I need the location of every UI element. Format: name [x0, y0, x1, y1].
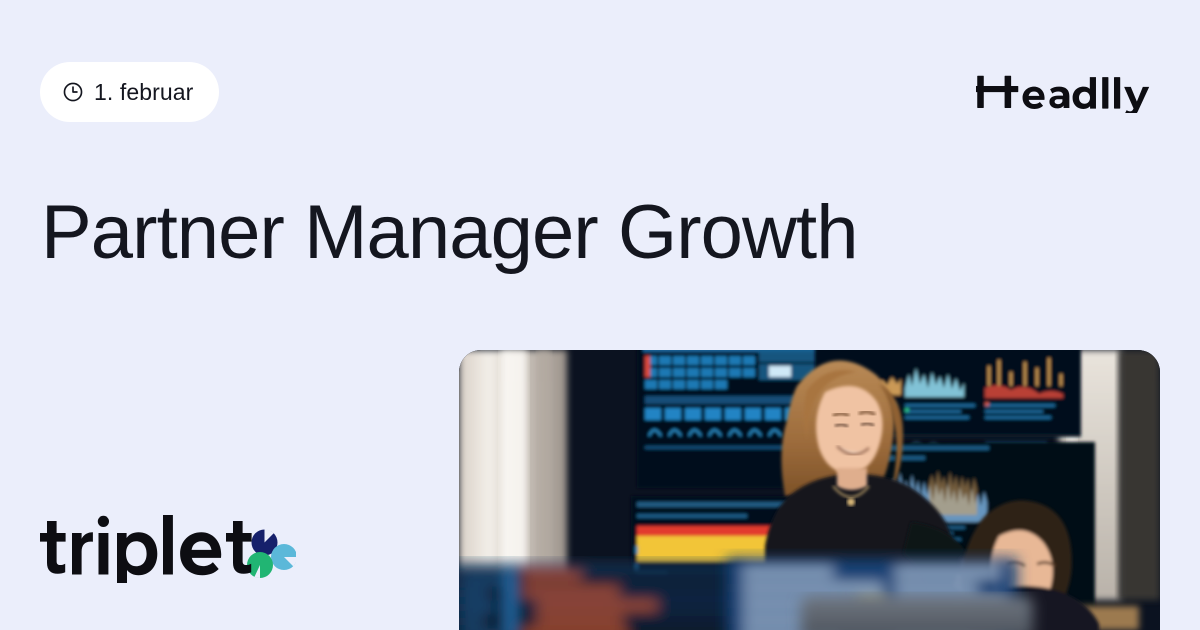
date-label: 1. februar [94, 81, 193, 104]
office-team-monitors-photo [459, 350, 1160, 630]
clock-icon [62, 81, 84, 103]
tripletex-dots [247, 530, 296, 579]
page-title: Partner Manager Growth [41, 192, 858, 274]
date-badge: 1. februar [40, 62, 219, 122]
headly-logo[interactable] [976, 64, 1162, 116]
tripletex-logo[interactable] [36, 505, 296, 583]
tripletex-wordmark [40, 515, 252, 583]
banner-canvas: 1. februar Pa [0, 0, 1200, 630]
